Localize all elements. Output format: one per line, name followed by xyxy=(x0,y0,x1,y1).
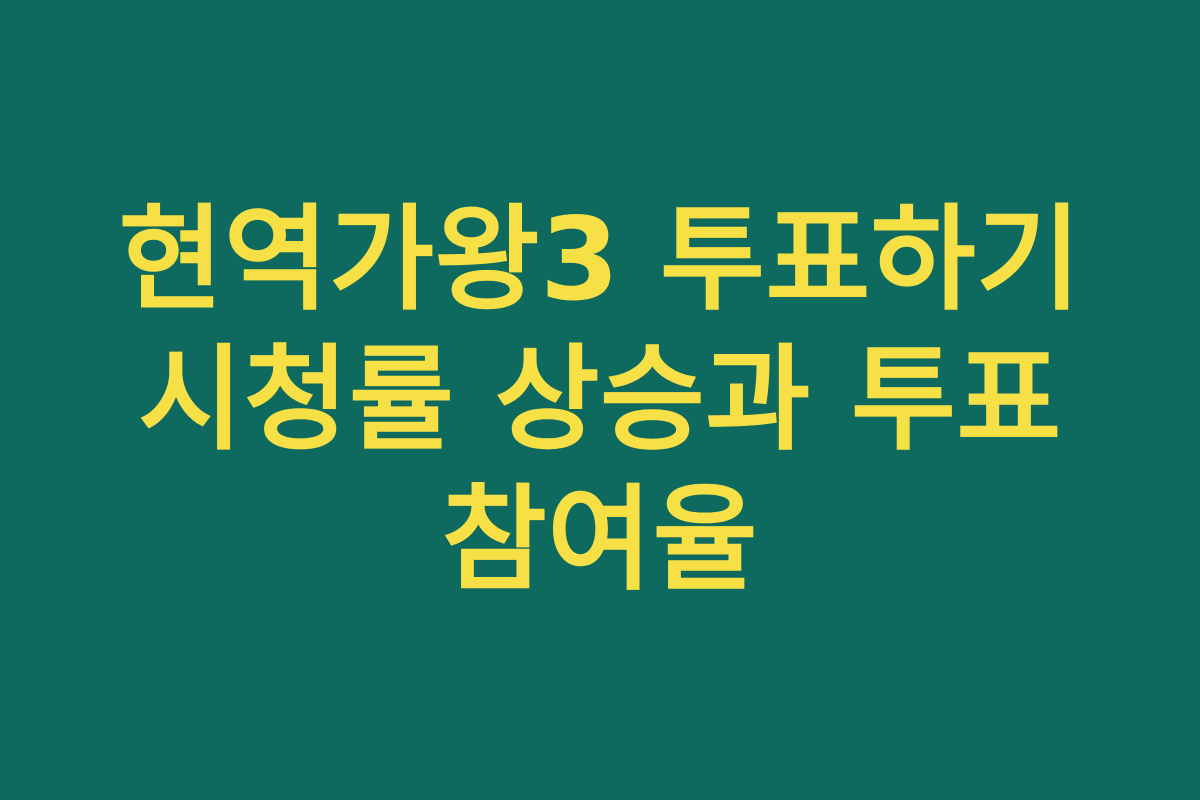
page-title: 현역가왕3 투표하기 시청률 상승과 투표 참여율 xyxy=(112,190,1088,610)
thumbnail-card: 현역가왕3 투표하기 시청률 상승과 투표 참여율 xyxy=(0,0,1200,800)
title-block: 현역가왕3 투표하기 시청률 상승과 투표 참여율 xyxy=(0,190,1200,610)
